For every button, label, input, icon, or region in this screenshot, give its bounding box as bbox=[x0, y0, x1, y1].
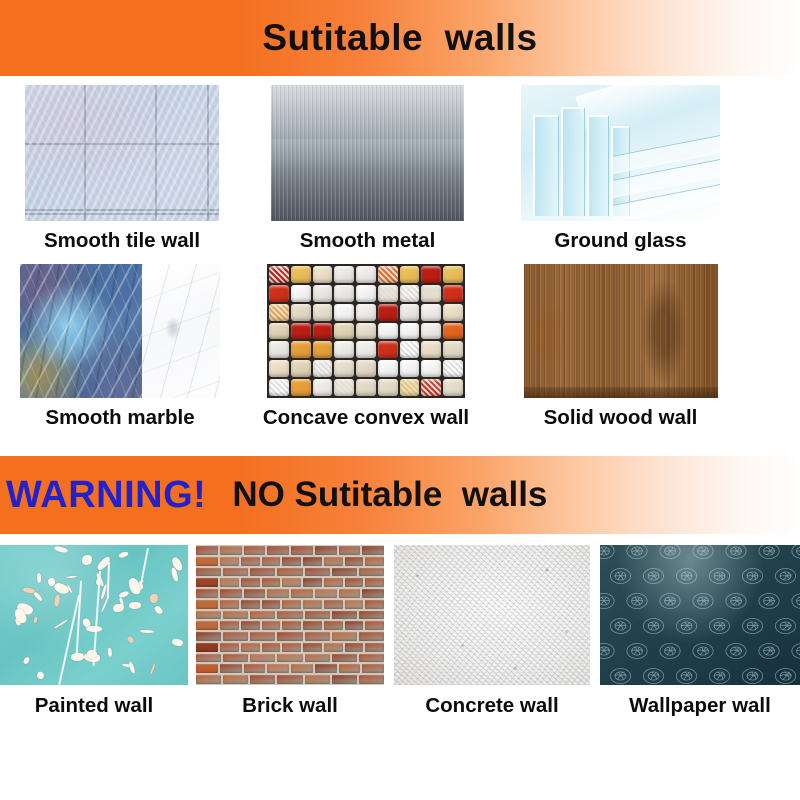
brick bbox=[262, 578, 281, 587]
brick bbox=[223, 568, 248, 577]
caption-concave-convex: Concave convex wall bbox=[263, 408, 469, 429]
brick bbox=[291, 664, 313, 673]
brick bbox=[345, 557, 364, 566]
mosaic-tile bbox=[421, 360, 441, 377]
brick bbox=[220, 546, 242, 555]
brick bbox=[244, 664, 266, 673]
mosaic-tile bbox=[334, 379, 354, 396]
brick bbox=[196, 546, 218, 555]
brick-row bbox=[196, 567, 384, 578]
mosaic-tile bbox=[291, 304, 311, 321]
brick bbox=[305, 568, 330, 577]
brick bbox=[223, 611, 248, 620]
painted-wall-image bbox=[0, 545, 188, 685]
brick-row bbox=[196, 588, 384, 599]
brick bbox=[359, 675, 384, 684]
mosaic-tile bbox=[334, 341, 354, 358]
brick-row bbox=[196, 663, 384, 674]
paint-flake bbox=[53, 594, 61, 607]
mosaic-tile bbox=[313, 341, 333, 358]
brick bbox=[282, 600, 301, 609]
brick bbox=[196, 568, 221, 577]
wallpaper-wall-image bbox=[600, 545, 800, 685]
caption-wallpaper-wrap: Wallpaper wall bbox=[600, 696, 800, 717]
brick bbox=[267, 589, 289, 598]
brick bbox=[332, 632, 357, 641]
mosaic-tile bbox=[356, 323, 376, 340]
brick bbox=[196, 600, 218, 609]
brick bbox=[332, 611, 357, 620]
brick bbox=[241, 643, 260, 652]
brick bbox=[303, 578, 322, 587]
wall-card-concrete[interactable] bbox=[394, 545, 590, 685]
brick bbox=[196, 632, 221, 641]
caption-solid-wood-wrap: Solid wood wall bbox=[521, 408, 720, 429]
brick bbox=[250, 632, 275, 641]
brick bbox=[250, 568, 275, 577]
brick bbox=[244, 589, 266, 598]
paint-flake bbox=[66, 576, 77, 579]
brick-row bbox=[196, 577, 384, 588]
brick bbox=[365, 600, 384, 609]
mosaic-tile bbox=[378, 266, 398, 283]
brick bbox=[303, 600, 322, 609]
caption-solid-wood: Solid wood wall bbox=[544, 408, 698, 429]
brick-row bbox=[196, 620, 384, 631]
wall-card-brick[interactable] bbox=[196, 545, 384, 685]
glass-pane bbox=[561, 107, 585, 216]
mosaic-tile bbox=[356, 379, 376, 396]
brick-row bbox=[196, 610, 384, 621]
brick bbox=[359, 568, 384, 577]
brick bbox=[339, 546, 361, 555]
paint-flake bbox=[36, 671, 45, 680]
mosaic-tile-grid bbox=[267, 264, 465, 398]
brick-row bbox=[196, 642, 384, 653]
mosaic-tile bbox=[356, 360, 376, 377]
paint-flake bbox=[34, 617, 38, 623]
brick bbox=[250, 675, 275, 684]
caption-concave-convex-wrap: Concave convex wall bbox=[260, 408, 472, 429]
mosaic-tile bbox=[443, 285, 463, 302]
mosaic-tile bbox=[378, 285, 398, 302]
mosaic-tile bbox=[269, 304, 289, 321]
caption-painted-wall: Painted wall bbox=[35, 696, 153, 717]
caption-smooth-metal-wrap: Smooth metal bbox=[271, 231, 464, 252]
brick-row bbox=[196, 653, 384, 664]
mosaic-tile bbox=[443, 266, 463, 283]
paint-flake bbox=[127, 577, 142, 596]
mosaic-tile bbox=[334, 266, 354, 283]
mosaic-tile bbox=[378, 360, 398, 377]
mosaic-tile bbox=[400, 341, 420, 358]
paint-flake bbox=[71, 653, 84, 661]
smooth-tile-image bbox=[25, 85, 219, 221]
brick bbox=[324, 643, 343, 652]
caption-brick-wrap: Brick wall bbox=[196, 696, 384, 717]
brick bbox=[220, 600, 239, 609]
brick bbox=[250, 611, 275, 620]
caption-painted-wrap: Painted wall bbox=[0, 696, 188, 717]
brick bbox=[244, 546, 266, 555]
caption-smooth-tile: Smooth tile wall bbox=[44, 231, 200, 252]
mosaic-tile bbox=[400, 304, 420, 321]
caption-concrete-wrap: Concrete wall bbox=[394, 696, 590, 717]
brick-pattern bbox=[196, 545, 384, 685]
mosaic-tile bbox=[334, 304, 354, 321]
brick bbox=[282, 643, 301, 652]
brick bbox=[291, 589, 313, 598]
paint-crack bbox=[75, 581, 81, 653]
brick bbox=[196, 664, 218, 673]
brick bbox=[315, 589, 337, 598]
glass-pane bbox=[533, 115, 559, 216]
paint-flake bbox=[129, 661, 136, 674]
unsuitable-walls-grid: Painted wall Brick wall Concrete wall Wa… bbox=[0, 534, 800, 734]
mosaic-tile bbox=[421, 379, 441, 396]
brick bbox=[324, 557, 343, 566]
mosaic-tile bbox=[291, 323, 311, 340]
glass-pane bbox=[587, 115, 609, 216]
brick bbox=[332, 675, 357, 684]
brick bbox=[345, 621, 364, 630]
mosaic-tile bbox=[443, 379, 463, 396]
brick bbox=[267, 546, 289, 555]
mosaic-tile bbox=[443, 341, 463, 358]
brick bbox=[262, 621, 281, 630]
brick bbox=[262, 643, 281, 652]
brick bbox=[277, 654, 302, 663]
brick bbox=[365, 557, 384, 566]
brick bbox=[362, 664, 384, 673]
paint-flake bbox=[22, 656, 29, 664]
brick-wall-image bbox=[196, 545, 384, 685]
mosaic-tile bbox=[400, 266, 420, 283]
paint-flake bbox=[107, 648, 112, 657]
marble-blue-half bbox=[20, 264, 142, 398]
brick bbox=[196, 611, 221, 620]
mosaic-tile bbox=[378, 379, 398, 396]
brick bbox=[262, 600, 281, 609]
brick bbox=[332, 654, 357, 663]
brick bbox=[220, 621, 239, 630]
brick bbox=[324, 621, 343, 630]
marble-image bbox=[20, 264, 220, 398]
mosaic-tile bbox=[269, 285, 289, 302]
wall-card-painted[interactable] bbox=[0, 545, 188, 685]
warning-banner-title: NO Sutitable walls bbox=[232, 475, 547, 515]
mosaic-tile bbox=[378, 323, 398, 340]
brick bbox=[365, 643, 384, 652]
mosaic-tile bbox=[269, 323, 289, 340]
mosaic-tile bbox=[269, 360, 289, 377]
paint-flake bbox=[118, 550, 129, 558]
suitable-walls-banner: Sutitable walls bbox=[0, 0, 800, 76]
brick bbox=[359, 632, 384, 641]
brick bbox=[303, 643, 322, 652]
brick bbox=[241, 600, 260, 609]
brick bbox=[196, 578, 218, 587]
brick bbox=[220, 589, 242, 598]
poster-root: Sutitable walls Smooth tile wall Smooth … bbox=[0, 0, 800, 800]
brick bbox=[220, 578, 239, 587]
brick bbox=[282, 557, 301, 566]
brick bbox=[241, 621, 260, 630]
brick bbox=[362, 589, 384, 598]
brick bbox=[196, 675, 221, 684]
marble-white-half bbox=[142, 264, 220, 398]
mosaic-tile bbox=[443, 360, 463, 377]
brick bbox=[339, 589, 361, 598]
mosaic-image bbox=[267, 264, 465, 398]
brick bbox=[196, 654, 221, 663]
mosaic-tile bbox=[421, 285, 441, 302]
mosaic-tile bbox=[421, 266, 441, 283]
brick bbox=[359, 611, 384, 620]
brick bbox=[277, 611, 302, 620]
mosaic-tile bbox=[313, 323, 333, 340]
brick bbox=[332, 568, 357, 577]
warning-banner: WARNING! NO Sutitable walls bbox=[0, 456, 800, 534]
caption-ground-glass-wrap: Ground glass bbox=[521, 231, 720, 252]
brick bbox=[303, 621, 322, 630]
mosaic-tile bbox=[400, 379, 420, 396]
mosaic-tile bbox=[334, 285, 354, 302]
brick bbox=[359, 654, 384, 663]
mosaic-tile bbox=[400, 323, 420, 340]
mosaic-tile bbox=[421, 323, 441, 340]
wall-card-solid-wood[interactable] bbox=[524, 264, 718, 398]
wall-card-smooth-tile[interactable] bbox=[25, 85, 219, 221]
brick bbox=[291, 546, 313, 555]
mosaic-tile bbox=[443, 323, 463, 340]
brick bbox=[305, 632, 330, 641]
wall-card-concave-convex[interactable] bbox=[267, 264, 465, 398]
mosaic-tile bbox=[291, 266, 311, 283]
brick bbox=[315, 664, 337, 673]
mosaic-tile bbox=[378, 341, 398, 358]
paint-flake bbox=[126, 635, 134, 643]
brick bbox=[220, 643, 239, 652]
brick bbox=[196, 589, 218, 598]
brick-row bbox=[196, 599, 384, 610]
caption-ground-glass: Ground glass bbox=[554, 231, 686, 252]
paint-flake bbox=[54, 545, 69, 554]
wall-card-wallpaper[interactable] bbox=[600, 545, 800, 685]
ground-glass-image bbox=[521, 85, 720, 221]
brick bbox=[303, 557, 322, 566]
brick bbox=[282, 621, 301, 630]
brick bbox=[196, 557, 218, 566]
paint-flake bbox=[113, 604, 124, 613]
mosaic-tile bbox=[356, 304, 376, 321]
brick bbox=[277, 632, 302, 641]
mosaic-tile bbox=[334, 360, 354, 377]
wall-card-smooth-metal[interactable] bbox=[271, 85, 464, 221]
brick bbox=[362, 546, 384, 555]
mosaic-tile bbox=[334, 323, 354, 340]
brick bbox=[241, 557, 260, 566]
warning-label: WARNING! bbox=[6, 474, 206, 517]
paint-flake bbox=[171, 637, 184, 647]
mosaic-tile bbox=[313, 360, 333, 377]
brick bbox=[277, 675, 302, 684]
caption-smooth-marble-wrap: Smooth marble bbox=[20, 408, 220, 429]
brick bbox=[223, 632, 248, 641]
paint-crack bbox=[140, 548, 148, 584]
brick bbox=[324, 578, 343, 587]
mosaic-tile bbox=[291, 341, 311, 358]
paint-flake bbox=[22, 587, 35, 595]
wallpaper-floral-pattern bbox=[600, 545, 800, 685]
brick bbox=[315, 546, 337, 555]
paint-flake bbox=[140, 629, 154, 633]
brick bbox=[196, 621, 218, 630]
wall-card-smooth-marble[interactable] bbox=[20, 264, 220, 398]
mosaic-tile bbox=[400, 360, 420, 377]
brick bbox=[305, 654, 330, 663]
mosaic-tile bbox=[378, 304, 398, 321]
brick-row bbox=[196, 631, 384, 642]
paint-crack bbox=[106, 562, 109, 599]
brick bbox=[324, 600, 343, 609]
brick bbox=[339, 664, 361, 673]
mosaic-tile bbox=[443, 304, 463, 321]
mosaic-tile bbox=[313, 304, 333, 321]
brick bbox=[196, 643, 218, 652]
brick bbox=[262, 557, 281, 566]
suitable-walls-grid: Smooth tile wall Smooth metal Ground gla… bbox=[0, 76, 800, 456]
brick bbox=[267, 664, 289, 673]
paint-flake bbox=[37, 573, 42, 583]
paint-flake bbox=[154, 605, 164, 616]
paint-flake bbox=[82, 555, 92, 565]
brick bbox=[345, 578, 364, 587]
brick bbox=[345, 600, 364, 609]
mosaic-tile bbox=[313, 285, 333, 302]
brick bbox=[345, 643, 364, 652]
caption-concrete-wall: Concrete wall bbox=[425, 696, 558, 717]
brushed-metal-image bbox=[271, 85, 464, 221]
caption-smooth-marble: Smooth marble bbox=[45, 408, 194, 429]
paint-flake bbox=[96, 556, 112, 572]
wood-image bbox=[524, 264, 718, 398]
concrete-wall-image bbox=[394, 545, 590, 685]
brick bbox=[305, 675, 330, 684]
brick bbox=[223, 654, 248, 663]
mosaic-tile bbox=[356, 266, 376, 283]
paint-flake bbox=[150, 594, 158, 603]
brick bbox=[250, 654, 275, 663]
brick bbox=[241, 578, 260, 587]
caption-wallpaper-wall: Wallpaper wall bbox=[629, 696, 771, 717]
mosaic-tile bbox=[313, 379, 333, 396]
brick bbox=[282, 578, 301, 587]
brick bbox=[223, 675, 248, 684]
brick bbox=[220, 557, 239, 566]
mosaic-tile bbox=[269, 379, 289, 396]
mosaic-tile bbox=[400, 285, 420, 302]
mosaic-tile bbox=[356, 285, 376, 302]
mosaic-tile bbox=[421, 341, 441, 358]
brick bbox=[305, 611, 330, 620]
mosaic-tile bbox=[291, 360, 311, 377]
brick-row bbox=[196, 545, 384, 556]
caption-brick-wall: Brick wall bbox=[242, 696, 338, 717]
mosaic-tile bbox=[356, 341, 376, 358]
suitable-banner-title: Sutitable walls bbox=[262, 17, 537, 59]
brick bbox=[365, 578, 384, 587]
paint-flake bbox=[129, 602, 141, 609]
mosaic-tile bbox=[291, 379, 311, 396]
caption-smooth-tile-wrap: Smooth tile wall bbox=[25, 231, 219, 252]
caption-smooth-metal: Smooth metal bbox=[300, 231, 436, 252]
brick bbox=[365, 621, 384, 630]
mosaic-tile bbox=[421, 304, 441, 321]
brick-row bbox=[196, 556, 384, 567]
brick bbox=[277, 568, 302, 577]
paint-flake bbox=[150, 664, 157, 676]
brick-row bbox=[196, 674, 384, 685]
mosaic-tile bbox=[269, 266, 289, 283]
mosaic-tile bbox=[313, 266, 333, 283]
paint-flake bbox=[101, 597, 110, 612]
mosaic-tile bbox=[291, 285, 311, 302]
mosaic-tile bbox=[269, 341, 289, 358]
brick bbox=[220, 664, 242, 673]
paint-flake bbox=[54, 619, 69, 629]
wall-card-ground-glass[interactable] bbox=[521, 85, 720, 221]
